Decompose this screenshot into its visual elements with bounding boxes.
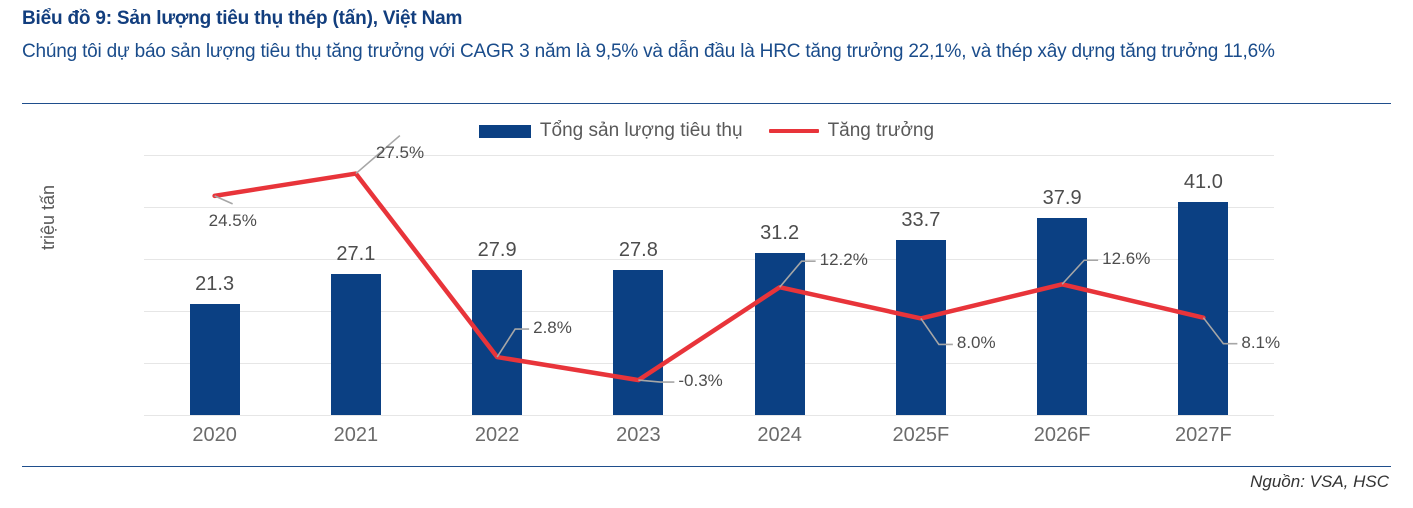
callout-leader-line — [1203, 318, 1237, 344]
growth-value-label-2020: 24.5% — [209, 211, 257, 231]
growth-line-path — [215, 174, 1204, 381]
growth-value-label-2025F: 8.0% — [957, 333, 996, 353]
x-axis-label-2024: 2024 — [757, 424, 802, 447]
growth-value-label-2026F: 12.6% — [1102, 249, 1150, 269]
y-axis-title-left: triệu tấn — [38, 185, 59, 250]
source-note: Nguồn: VSA, HSC — [1250, 472, 1389, 492]
gridline — [144, 415, 1274, 416]
x-axis-label-2020: 2020 — [192, 424, 237, 447]
x-axis-label-2021: 2021 — [334, 424, 379, 447]
x-axis-label-2023: 2023 — [616, 424, 661, 447]
callout-leader-line — [780, 261, 816, 287]
x-axis-label-2025F: 2025F — [893, 424, 950, 447]
callout-leader-line — [638, 380, 674, 382]
plot-area: 0.010.020.030.040.050.0-5.0%0.0%5.0%10.0… — [144, 155, 1274, 415]
growth-value-label-2027F: 8.1% — [1241, 333, 1280, 353]
growth-value-label-2021: 27.5% — [376, 143, 424, 163]
callout-leader-line — [215, 196, 233, 204]
growth-value-label-2022: 2.8% — [533, 318, 572, 338]
chart-page: Biểu đồ 9: Sản lượng tiêu thụ thép (tấn)… — [0, 0, 1413, 508]
callout-leader-line — [921, 318, 953, 344]
x-axis-label-2022: 2022 — [475, 424, 520, 447]
x-axis-label-2026F: 2026F — [1034, 424, 1091, 447]
chart-canvas: triệu tấn 0.010.020.030.040.050.0-5.0%0.… — [0, 0, 1413, 508]
footer-divider — [22, 466, 1391, 467]
callout-leader-line — [1062, 260, 1098, 284]
callout-leader-line — [497, 329, 529, 357]
x-axis-label-2027F: 2027F — [1175, 424, 1232, 447]
growth-value-label-2024: 12.2% — [820, 250, 868, 270]
growth-value-label-2023: -0.3% — [678, 371, 722, 391]
